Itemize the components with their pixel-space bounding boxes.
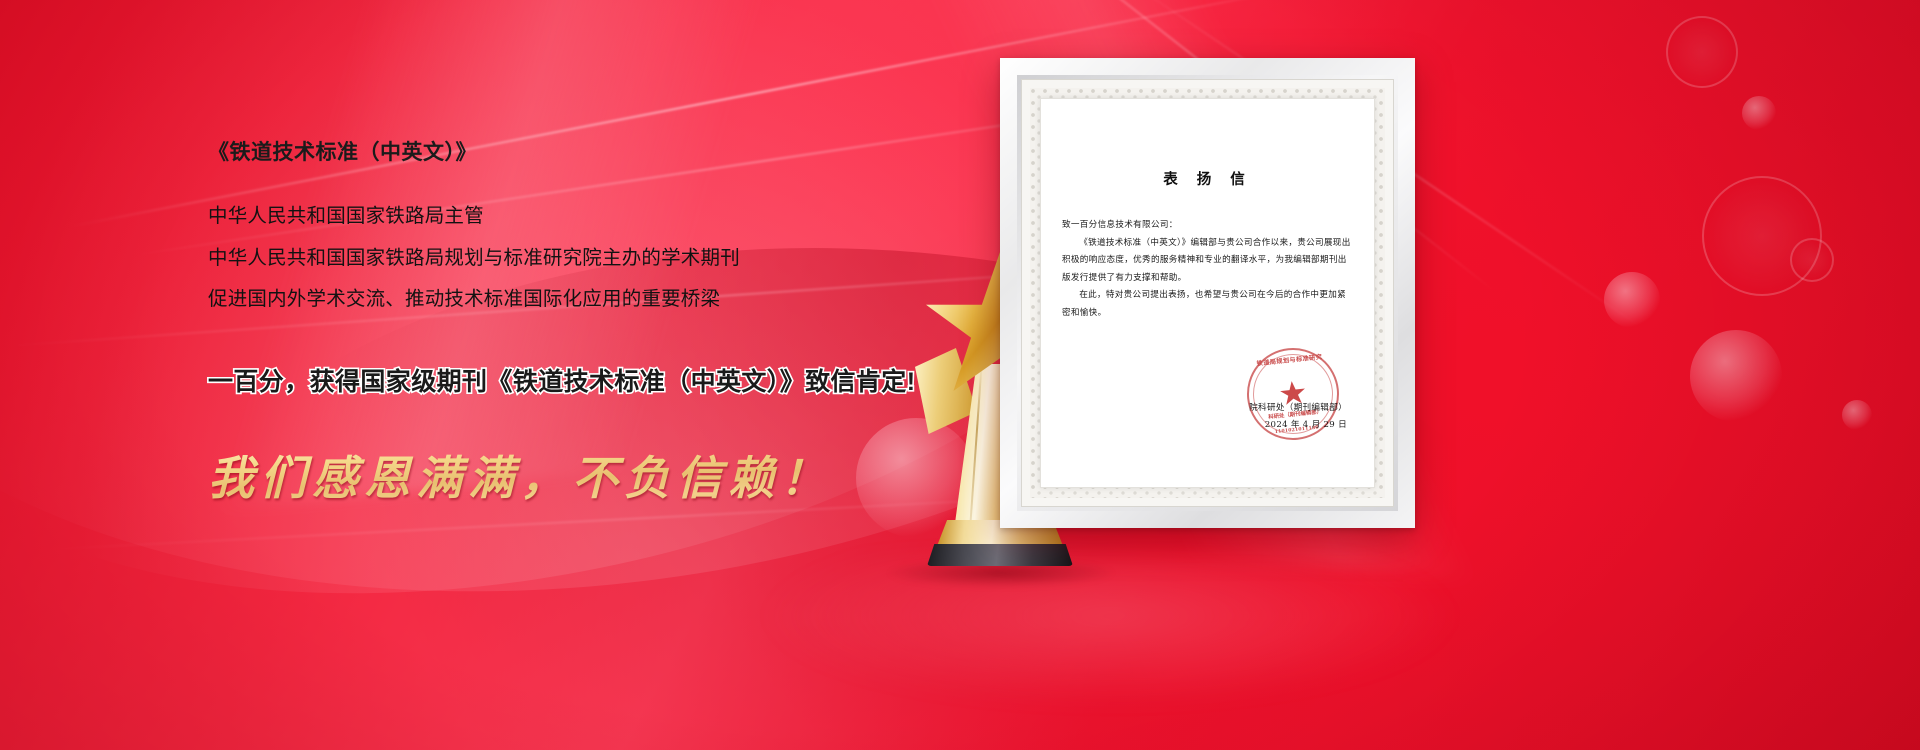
certificate-paper: 表 扬 信 致一百分信息技术有限公司： 《铁道技术标准（中英文）》编辑部与贵公司… — [1040, 98, 1375, 488]
frame-bevel: 表 扬 信 致一百分信息技术有限公司： 《铁道技术标准（中英文）》编辑部与贵公司… — [1017, 75, 1398, 511]
description-line-1: 中华人民共和国国家铁路局主管 — [208, 207, 998, 227]
bokeh-circle-3 — [1702, 176, 1822, 296]
framed-certificate: 表 扬 信 致一百分信息技术有限公司： 《铁道技术标准（中英文）》编辑部与贵公司… — [1000, 58, 1415, 528]
frame-mat-pattern: 表 扬 信 致一百分信息技术有限公司： 《铁道技术标准（中英文）》编辑部与贵公司… — [1030, 88, 1385, 498]
promo-copy-block: 《铁道技术标准（中英文）》 中华人民共和国国家铁路局主管 中华人民共和国国家铁路… — [208, 140, 998, 508]
trophy-base-dark — [927, 544, 1073, 566]
certificate-paragraph-1: 《铁道技术标准（中英文）》编辑部与贵公司合作以来，贵公司展现出积极的响应态度，优… — [1062, 235, 1353, 288]
certificate-paragraph-2: 在此，特对贵公司提出表扬，也希望与贵公司在今后的合作中更加紧密和愉快。 — [1062, 287, 1353, 322]
description-line-3: 促进国内外学术交流、推动技术标准国际化应用的重要桥梁 — [208, 290, 998, 310]
headline-text: 一百分，获得国家级期刊《铁道技术标准（中英文）》致信肯定! — [208, 362, 998, 398]
bokeh-circle-6 — [1790, 238, 1834, 282]
journal-title: 《铁道技术标准（中英文）》 — [208, 140, 998, 165]
certificate-title: 表 扬 信 — [1062, 168, 1353, 189]
calligraphy-slogan: 我们感恩满满，不负信赖！ — [208, 442, 998, 508]
bokeh-circle-8 — [1842, 400, 1872, 430]
frame-mat: 表 扬 信 致一百分信息技术有限公司： 《铁道技术标准（中英文）》编辑部与贵公司… — [1021, 79, 1394, 507]
certificate-salutation: 致一百分信息技术有限公司： — [1062, 217, 1353, 235]
description-line-2: 中华人民共和国国家铁路局规划与标准研究院主办的学术期刊 — [208, 249, 998, 269]
certificate-body: 致一百分信息技术有限公司： 《铁道技术标准（中英文）》编辑部与贵公司合作以来，贵… — [1062, 217, 1353, 323]
bokeh-circle-4 — [1604, 272, 1660, 328]
bokeh-circle-2 — [1742, 96, 1776, 130]
bokeh-circle-5 — [1690, 330, 1782, 422]
promo-banner: 《铁道技术标准（中英文）》 中华人民共和国国家铁路局主管 中华人民共和国国家铁路… — [0, 0, 1920, 750]
bokeh-circle-1 — [1666, 16, 1738, 88]
